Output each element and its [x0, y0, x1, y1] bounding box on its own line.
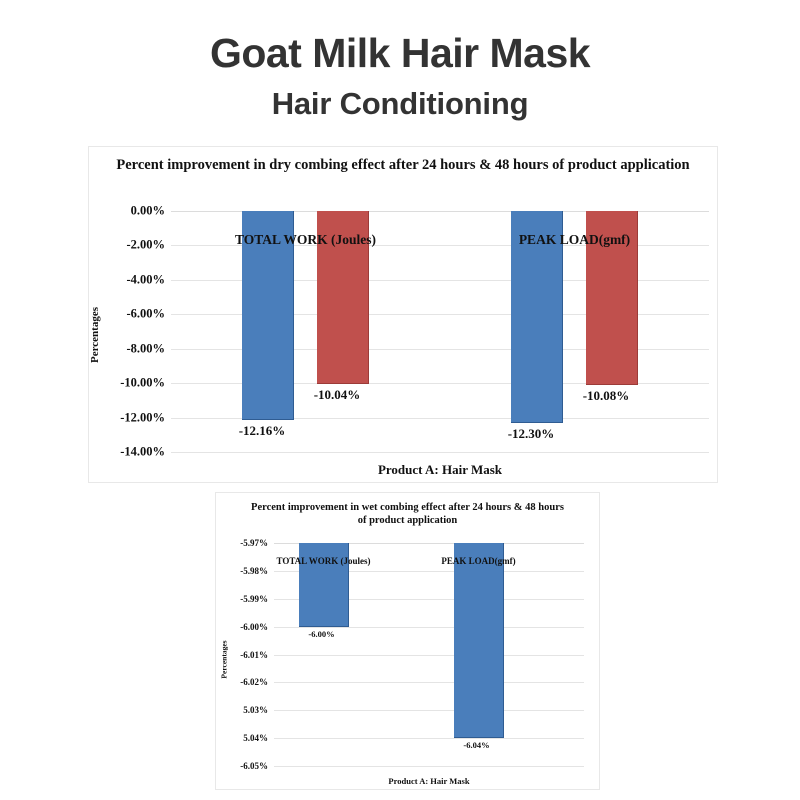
page-title: Goat Milk Hair Mask: [0, 0, 800, 77]
y-axis-tick: -12.00%: [120, 410, 165, 425]
page-subtitle: Hair Conditioning: [0, 77, 800, 122]
gridline: [171, 452, 709, 453]
y-axis-tick: -4.00%: [126, 272, 165, 287]
y-axis-tick: -5.98%: [240, 566, 268, 576]
y-axis-tick: -6.01%: [240, 650, 268, 660]
y-axis-tick: -5.97%: [240, 538, 268, 548]
y-axis-title: Percentages: [89, 290, 101, 380]
bar-value-label: -10.04%: [314, 387, 361, 403]
category-label: PEAK LOAD(gmf): [441, 556, 515, 566]
x-axis-title: Product A: Hair Mask: [171, 462, 709, 478]
gridline: [274, 627, 584, 628]
y-axis-tick: -10.00%: [120, 376, 165, 391]
y-axis-tick: -5.99%: [240, 594, 268, 604]
gridline: [274, 710, 584, 711]
x-axis-title: Product A: Hair Mask: [274, 776, 584, 786]
dry-combing-chart: Percent improvement in dry combing effec…: [88, 146, 718, 483]
bar-value-label: -12.16%: [239, 423, 286, 439]
category-label: PEAK LOAD(gmf): [519, 232, 630, 248]
gridline: [274, 682, 584, 683]
bar-value-label: -10.08%: [583, 388, 630, 404]
y-axis-tick: -6.00%: [126, 307, 165, 322]
y-axis-tick: -6.00%: [240, 622, 268, 632]
category-label: TOTAL WORK (Joules): [276, 556, 370, 566]
chart-title: Percent improvement in dry combing effec…: [89, 156, 717, 174]
y-axis-tick: 5.03%: [243, 705, 268, 715]
bar: [454, 543, 504, 738]
gridline: [274, 655, 584, 656]
y-axis-tick: -6.05%: [240, 761, 268, 771]
page-header: Goat Milk Hair Mask Hair Conditioning: [0, 0, 800, 122]
y-axis-tick: 5.04%: [243, 733, 268, 743]
chart-title: Percent improvement in wet combing effec…: [216, 501, 599, 527]
y-axis-tick: -6.02%: [240, 677, 268, 687]
y-axis-tick: -2.00%: [126, 238, 165, 253]
bar-value-label: -12.30%: [508, 426, 555, 442]
category-label: TOTAL WORK (Joules): [235, 232, 376, 248]
bar-value-label: -6.04%: [463, 740, 489, 750]
gridline: [274, 738, 584, 739]
y-axis-title: Percentages: [220, 625, 229, 695]
gridline: [274, 766, 584, 767]
y-axis-tick: -14.00%: [120, 445, 165, 460]
y-axis-tick: 0.00%: [131, 204, 165, 219]
plot-area: Percentages Product A: Hair Mask -5.97%-…: [274, 543, 584, 766]
wet-combing-chart: Percent improvement in wet combing effec…: [215, 492, 600, 790]
bar-value-label: -6.00%: [308, 629, 334, 639]
y-axis-tick: -8.00%: [126, 341, 165, 356]
plot-area: Percentages Product A: Hair Mask 0.00%-2…: [171, 211, 709, 452]
